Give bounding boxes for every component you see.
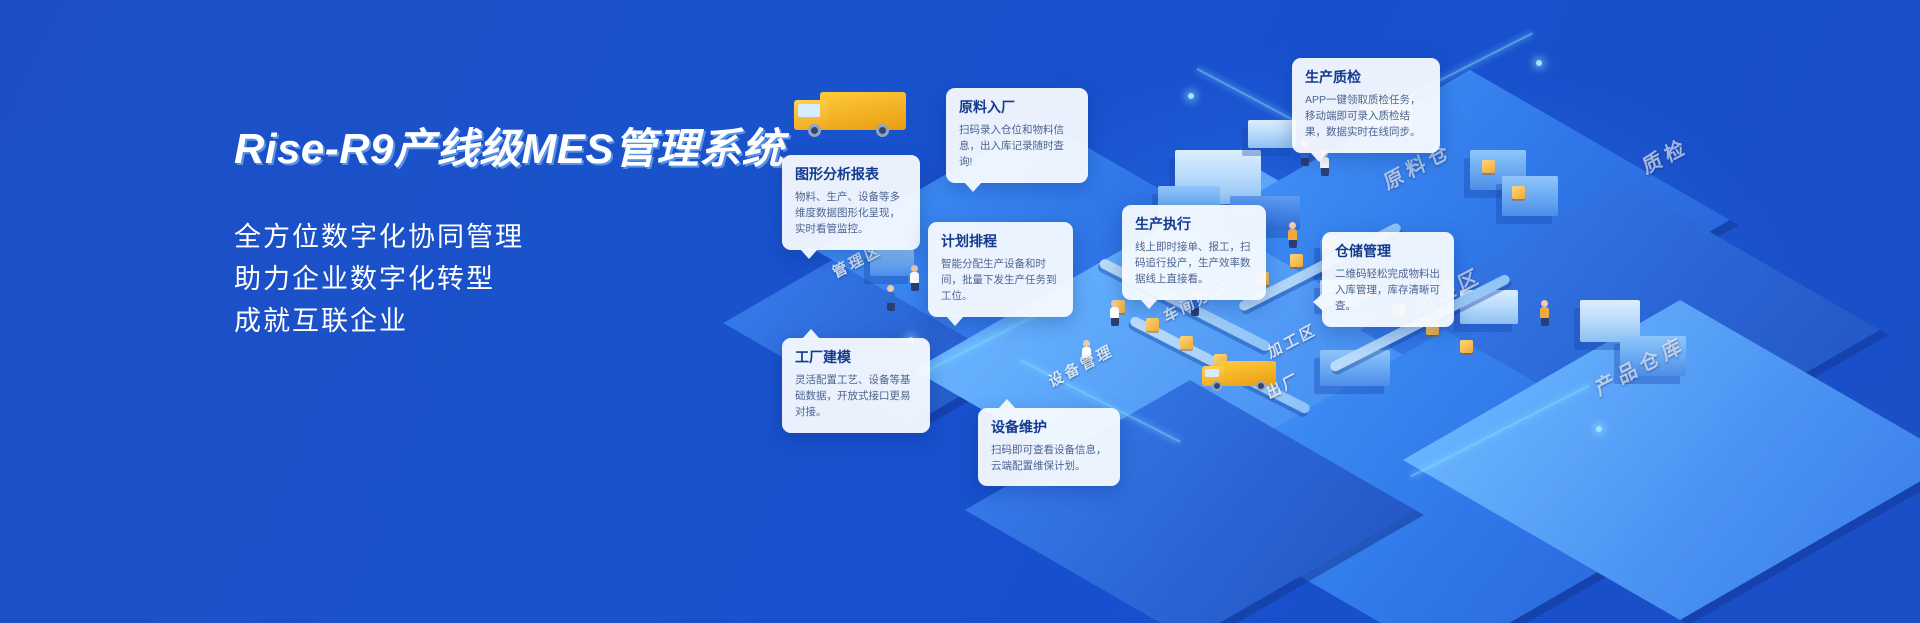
network-node: [1596, 426, 1602, 432]
network-line: [1197, 68, 1304, 126]
callout-card-equipment-maintenance[interactable]: 设备维护 扫码即可查看设备信息，云端配置维保计划。: [978, 408, 1120, 486]
page-title: Rise-R9产线级MES管理系统: [234, 126, 794, 172]
crate: [1180, 336, 1193, 349]
crate: [1482, 160, 1495, 173]
crate: [1512, 186, 1525, 199]
card-title: 生产执行: [1135, 216, 1253, 233]
hero-subtitle-line-2: 助力企业数字化转型: [234, 258, 794, 300]
worker-figure: [1288, 222, 1297, 246]
card-title: 工厂建模: [795, 349, 917, 366]
callout-card-factory-modeling[interactable]: 工厂建模 灵活配置工艺、设备等基础数据，开放式接口更易对接。: [782, 338, 930, 433]
card-body: 智能分配生产设备和时间，批量下发生产任务到工位。: [941, 256, 1060, 305]
shelf-rack-b: [1502, 176, 1558, 216]
hero-subtitle-line-3: 成就互联企业: [234, 300, 794, 342]
network-node: [1188, 93, 1194, 99]
worker-figure: [910, 265, 919, 289]
callout-card-material-inbound[interactable]: 原料入厂 扫码录入仓位和物料信息，出入库记录随时查询!: [946, 88, 1088, 183]
crate: [1460, 340, 1473, 353]
card-body: 线上即时接单、报工，扫码追行投产，生产效率数据线上直接看。: [1135, 239, 1253, 288]
card-body: 灵活配置工艺、设备等基础数据，开放式接口更易对接。: [795, 372, 917, 421]
hero-subtitle-line-1: 全方位数字化协同管理: [234, 216, 794, 258]
delivery-truck-inbound: [790, 88, 910, 150]
callout-card-chart-analysis[interactable]: 图形分析报表 物料、生产、设备等多维度数据图形化呈现，实时看管监控。: [782, 155, 920, 250]
machine-line-b: [1248, 120, 1296, 148]
delivery-truck-outbound: [1200, 358, 1278, 402]
card-body: 扫码即可查看设备信息，云端配置维保计划。: [991, 442, 1107, 475]
card-title: 原料入厂: [959, 99, 1075, 116]
card-body: 扫码录入仓位和物料信息，出入库记录随时查询!: [959, 122, 1075, 171]
worker-figure: [886, 285, 895, 309]
zone-label-quality: 质检: [1638, 129, 1692, 180]
crate: [1290, 254, 1303, 267]
card-body: 二维码轻松完成物料出入库管理，库存清晰可查。: [1335, 266, 1441, 315]
card-body: 物料、生产、设备等多维度数据图形化呈现，实时看管监控。: [795, 189, 907, 238]
network-node: [1536, 60, 1542, 66]
worker-figure: [1110, 300, 1119, 324]
crate: [1146, 318, 1159, 331]
mes-hero-banner: Rise-R9产线级MES管理系统 全方位数字化协同管理 助力企业数字化转型 成…: [0, 0, 1920, 623]
callout-card-warehouse-management[interactable]: 仓储管理 二维码轻松完成物料出入库管理，库存清晰可查。: [1322, 232, 1454, 327]
card-body: APP一键领取质检任务，移动端即可录入质检结果，数据实时在线同步。: [1305, 92, 1427, 141]
card-title: 计划排程: [941, 233, 1060, 250]
callout-card-plan-scheduling[interactable]: 计划排程 智能分配生产设备和时间，批量下发生产任务到工位。: [928, 222, 1073, 317]
hero-subtitle-group: 全方位数字化协同管理 助力企业数字化转型 成就互联企业: [234, 216, 794, 342]
callout-card-production-execution[interactable]: 生产执行 线上即时接单、报工，扫码追行投产，生产效率数据线上直接看。: [1122, 205, 1266, 300]
hero-text-block: Rise-R9产线级MES管理系统 全方位数字化协同管理 助力企业数字化转型 成…: [234, 126, 794, 342]
card-title: 图形分析报表: [795, 166, 907, 183]
callout-card-quality-inspection[interactable]: 生产质检 APP一键领取质检任务，移动端即可录入质检结果，数据实时在线同步。: [1292, 58, 1440, 153]
card-title: 仓储管理: [1335, 243, 1441, 260]
card-title: 生产质检: [1305, 69, 1427, 86]
worker-figure: [1540, 300, 1549, 324]
card-title: 设备维护: [991, 419, 1107, 436]
